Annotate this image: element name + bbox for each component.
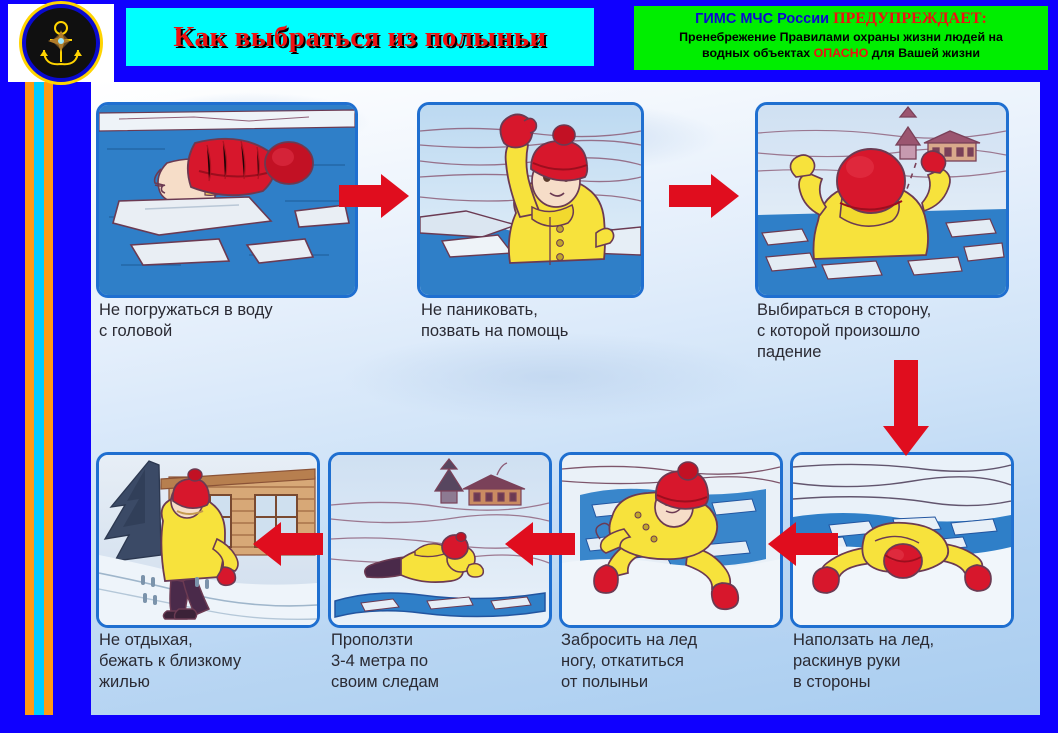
caption-line: в стороны: [793, 672, 1028, 693]
caption-line: Не паниковать,: [421, 300, 661, 321]
arrow-step4-to-step5: [766, 522, 838, 566]
caption-line: Не погружаться в воду: [99, 300, 359, 321]
arrow-step2-to-step3: [669, 174, 741, 218]
bg-texture: [341, 332, 761, 422]
warning-danger-word: ОПАСНО: [814, 46, 869, 60]
arrow-head: [253, 522, 281, 566]
arrow-step3-to-step4: [883, 360, 929, 456]
caption-line: ногу, откатиться: [561, 651, 791, 672]
step-6-caption: Проползти 3-4 метра по своим следам: [331, 630, 561, 693]
step-3-illustration: [755, 102, 1009, 298]
arrow-shaft: [894, 360, 918, 428]
poster-body: Не погружаться в воду с головой: [91, 82, 1040, 715]
caption-line: от полыньи: [561, 672, 791, 693]
warning-text-a: водных объектах: [702, 46, 814, 60]
caption-line: с головой: [99, 321, 359, 342]
arrow-step1-to-step2: [339, 174, 411, 218]
step-1-caption: Не погружаться в воду с головой: [99, 300, 359, 342]
caption-line: 3-4 метра по: [331, 651, 561, 672]
caption-line: раскинув руки: [793, 651, 1028, 672]
warning-text-line-2: водных объектах ОПАСНО для Вашей жизни: [634, 45, 1048, 61]
step-1-illustration: [96, 102, 358, 298]
arrow-head: [381, 174, 409, 218]
warning-heading: ГИМС МЧС России ПРЕДУПРЕЖДАЕТ:: [634, 9, 1048, 29]
caption-line: бежать к близкому: [99, 651, 329, 672]
step-2-caption: Не паниковать, позвать на помощь: [421, 300, 661, 342]
warning-banner: ГИМС МЧС России ПРЕДУПРЕЖДАЕТ: Пренебреж…: [634, 6, 1048, 70]
frame-left-inner: [53, 82, 91, 733]
arrow-step5-to-step6: [503, 522, 575, 566]
arrow-shaft: [531, 533, 575, 555]
arrow-shaft: [339, 185, 383, 207]
step-3-caption: Выбираться в сторону, с которой произошл…: [757, 300, 1007, 363]
stripe-cyan: [34, 82, 44, 733]
frame-left: [0, 0, 25, 733]
caption-line: Забросить на лед: [561, 630, 791, 651]
frame-bottom: [0, 715, 1058, 733]
emblem-container: [8, 4, 114, 82]
caption-line: Наползать на лед,: [793, 630, 1028, 651]
stripe-orange-outer: [25, 82, 34, 733]
warning-text-line-1: Пренебрежение Правилами охраны жизни люд…: [634, 29, 1048, 45]
arrow-head: [768, 522, 796, 566]
caption-line: Не отдыхая,: [99, 630, 329, 651]
caption-line: позвать на помощь: [421, 321, 661, 342]
page-title: Как выбраться из полыньи: [173, 21, 546, 54]
warning-text-b: для Вашей жизни: [868, 46, 980, 60]
arrow-head: [711, 174, 739, 218]
warning-verb: ПРЕДУПРЕЖДАЕТ:: [833, 10, 987, 27]
caption-line: падение: [757, 342, 1007, 363]
poster-root: Как выбраться из полыньи ГИМС МЧС России…: [0, 0, 1058, 733]
step-2-illustration: [417, 102, 644, 298]
warning-org: ГИМС МЧС России: [695, 11, 833, 27]
poster-title-box: Как выбраться из полыньи: [126, 8, 594, 66]
arrow-head: [883, 426, 929, 456]
frame-right: [1040, 0, 1058, 733]
caption-line: жилью: [99, 672, 329, 693]
arrow-shaft: [279, 533, 323, 555]
step-5-illustration: [559, 452, 783, 628]
caption-line: Выбираться в сторону,: [757, 300, 1007, 321]
step-4-caption: Наползать на лед, раскинув руки в сторон…: [793, 630, 1028, 693]
step-7-caption: Не отдыхая, бежать к близкому жилью: [99, 630, 329, 693]
caption-line: с которой произошло: [757, 321, 1007, 342]
step-5-caption: Забросить на лед ногу, откатиться от пол…: [561, 630, 791, 693]
gims-anchor-emblem-icon: [22, 4, 100, 82]
caption-line: своим следам: [331, 672, 561, 693]
arrow-shaft: [794, 533, 838, 555]
arrow-shaft: [669, 185, 713, 207]
stripe-orange-inner: [44, 82, 53, 733]
poster-header: Как выбраться из полыньи ГИМС МЧС России…: [0, 0, 1058, 82]
arrow-step6-to-step7: [251, 522, 323, 566]
arrow-head: [505, 522, 533, 566]
caption-line: Проползти: [331, 630, 561, 651]
